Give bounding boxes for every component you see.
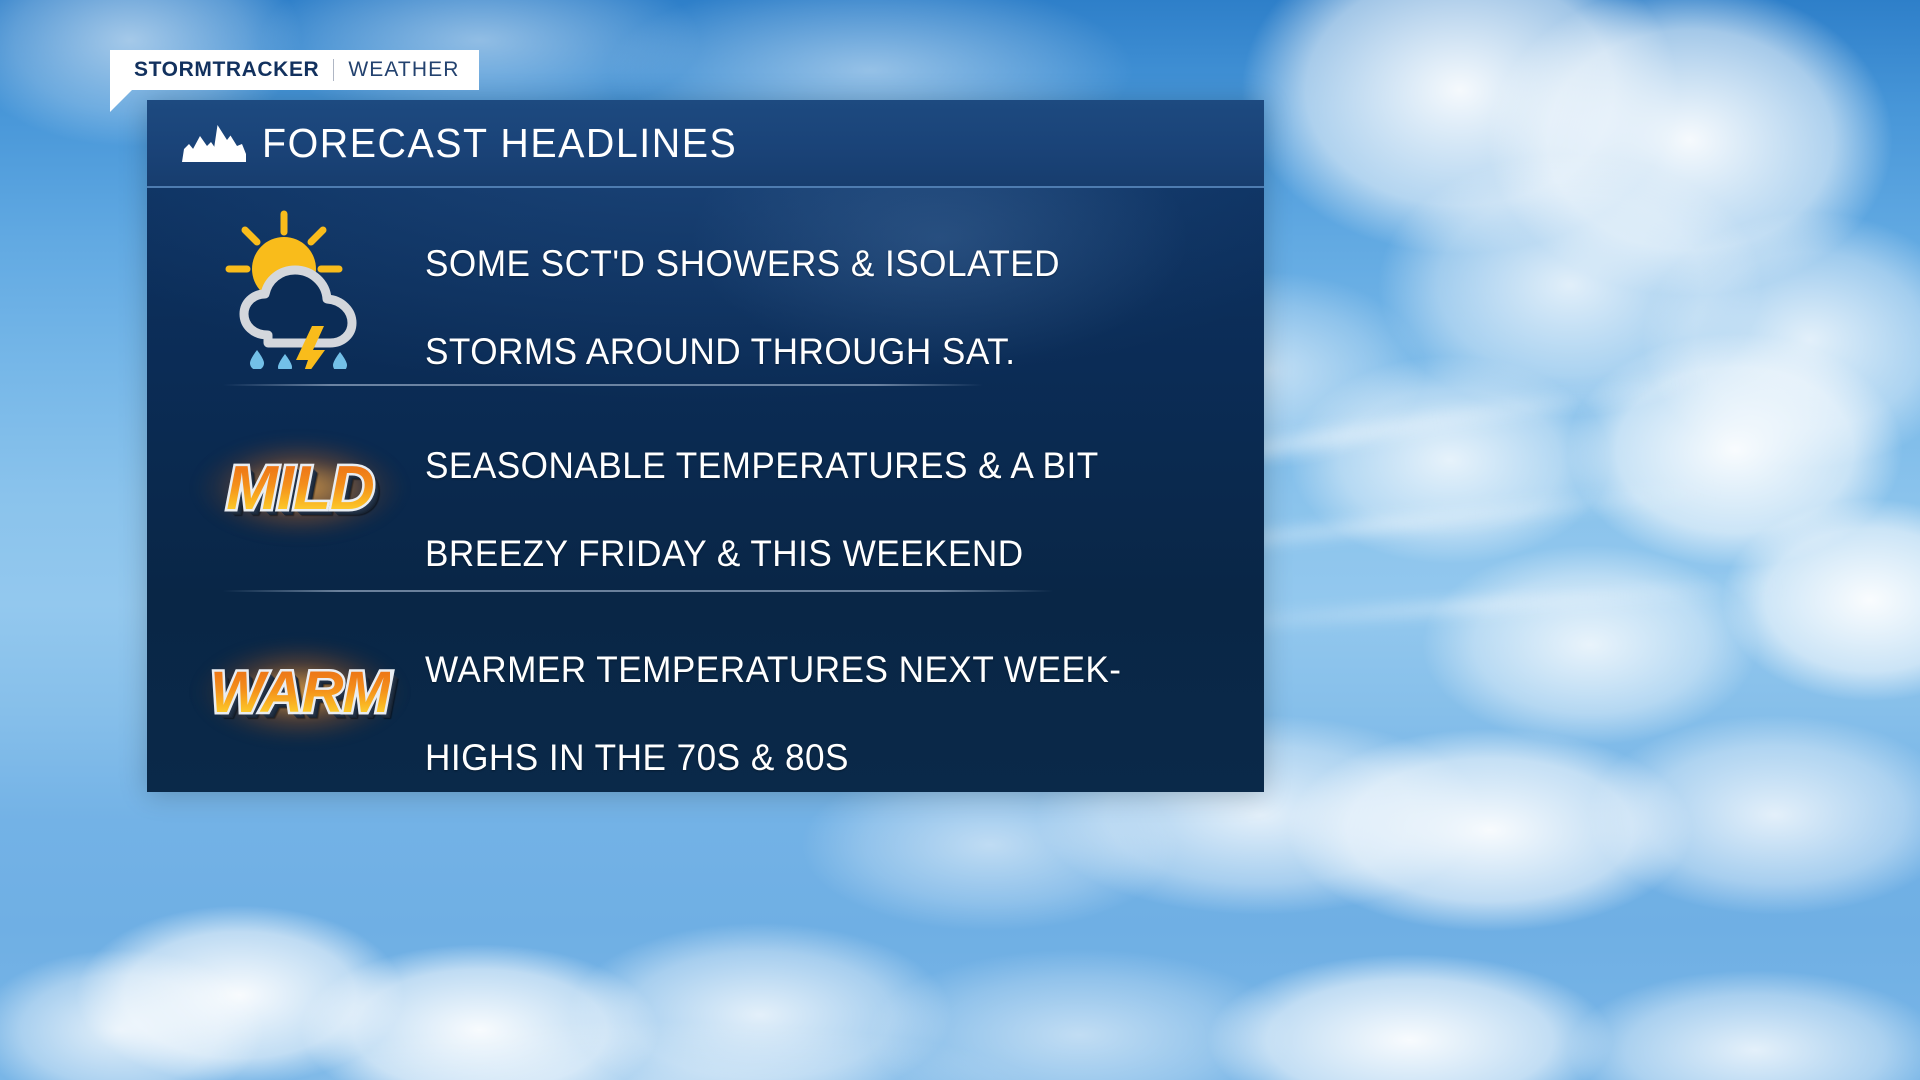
badge-face: WARM [210,660,390,725]
brand-tab: STORMTRACKER WEATHER [110,50,479,90]
headline-icon: WARM WARM WARM [175,592,425,792]
forecast-headlines-panel: FORECAST HEADLINES [147,100,1264,792]
mild-word-badge: MILD MILD MILD [226,453,374,524]
headline-row: MILD MILD MILD SEASONABLE TEMPERATURES &… [147,386,1264,590]
warm-word-badge: WARM WARM WARM [210,659,390,726]
headline-text: SOME SCT'D SHOWERS & ISOLATED STORMS ARO… [425,198,1060,374]
mountain-peaks-icon [182,122,246,164]
panel-header: FORECAST HEADLINES [147,100,1264,188]
headline-line-2: BREEZY FRIDAY & THIS WEEKEND [425,533,1024,574]
headline-line-1: SEASONABLE TEMPERATURES & A BIT [425,445,1099,486]
vertical-rule-icon [333,59,334,81]
headline-rows: SOME SCT'D SHOWERS & ISOLATED STORMS ARO… [147,188,1264,792]
headline-line-2: HIGHS IN THE 70S & 80S [425,737,849,778]
headline-line-2: STORMS AROUND THROUGH SAT. [425,331,1015,372]
headline-row: SOME SCT'D SHOWERS & ISOLATED STORMS ARO… [147,188,1264,384]
headline-icon [175,188,425,384]
page-title: FORECAST HEADLINES [262,120,737,167]
headline-text: SEASONABLE TEMPERATURES & A BIT BREEZY F… [425,400,1099,576]
headline-icon: MILD MILD MILD [175,386,425,590]
headline-row: WARM WARM WARM WARMER TEMPERATURES NEXT … [147,592,1264,792]
brand-primary-label: STORMTRACKER [134,58,319,82]
headline-text: WARMER TEMPERATURES NEXT WEEK- HIGHS IN … [425,604,1121,780]
headline-line-1: WARMER TEMPERATURES NEXT WEEK- [425,649,1121,690]
sun-cloud-rain-thunderstorm-icon [200,204,400,369]
brand-secondary-label: WEATHER [348,58,459,82]
badge-face: MILD [226,454,374,523]
headline-line-1: SOME SCT'D SHOWERS & ISOLATED [425,243,1060,284]
